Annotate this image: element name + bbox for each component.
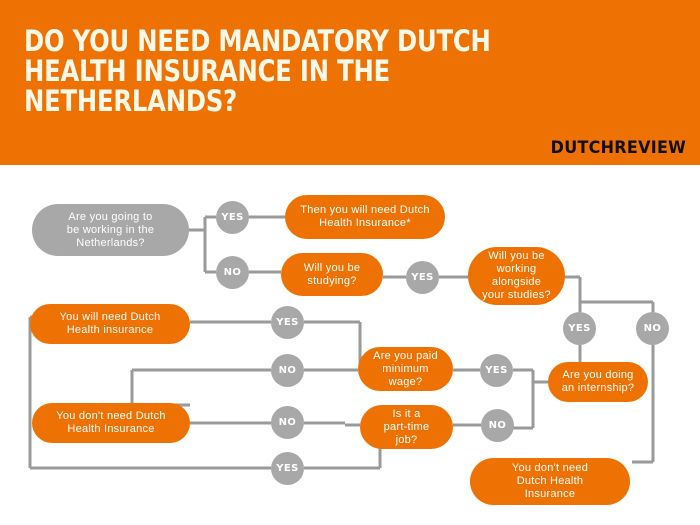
node-will-you-be-studying[interactable]: Will you be studying?	[281, 253, 383, 296]
node-are-you-doing-an-internship[interactable]: Are you doing an internship?	[548, 362, 648, 402]
page-title: DO YOU NEED MANDATORY DUTCH HEALTH INSUR…	[24, 26, 582, 116]
flowchart-canvas: Are you going to be working in the Nethe…	[0, 165, 700, 525]
brand-logo: DUTCHREVIEW	[551, 138, 686, 158]
node-then-you-will-need-dutch-health-insurance[interactable]: Then you will need Dutch Health Insuranc…	[285, 195, 445, 239]
node-you-dont-need-dutch-health-insurance-right[interactable]: You don't need Dutch Health Insurance	[470, 458, 630, 505]
node-you-will-need-dutch-health-insurance[interactable]: You will need Dutch Health insurance	[30, 304, 190, 344]
decision-yes-internship[interactable]: YES	[271, 306, 304, 339]
decision-no-internship[interactable]: NO	[271, 354, 304, 387]
node-will-you-be-working-alongside-your-studies[interactable]: Will you be working alongside your studi…	[468, 247, 565, 305]
decision-yes-working-in-netherlands[interactable]: YES	[216, 201, 249, 234]
infographic-root: DO YOU NEED MANDATORY DUTCH HEALTH INSUR…	[0, 0, 700, 525]
node-are-you-going-to-be-working[interactable]: Are you going to be working in the Nethe…	[32, 204, 189, 256]
decision-no-working-in-netherlands[interactable]: NO	[216, 256, 249, 289]
node-are-you-paid-minimum-wage[interactable]: Are you paid minimum wage?	[358, 347, 453, 391]
header-banner: DO YOU NEED MANDATORY DUTCH HEALTH INSUR…	[0, 0, 700, 165]
decision-yes-working-alongside-studies[interactable]: YES	[563, 312, 596, 345]
node-you-dont-need-dutch-health-insurance-left[interactable]: You don't need Dutch Health Insurance	[32, 403, 190, 443]
decision-yes-part-time-job[interactable]: YES	[271, 452, 304, 485]
decision-no-part-time-job[interactable]: NO	[481, 409, 514, 442]
decision-no-working-alongside-studies[interactable]: NO	[636, 312, 669, 345]
decision-yes-studying[interactable]: YES	[406, 261, 439, 294]
node-is-it-a-part-time-job[interactable]: Is it a part-time job?	[360, 405, 453, 449]
decision-no-minimum-wage[interactable]: NO	[271, 406, 304, 439]
decision-yes-minimum-wage[interactable]: YES	[480, 354, 513, 387]
